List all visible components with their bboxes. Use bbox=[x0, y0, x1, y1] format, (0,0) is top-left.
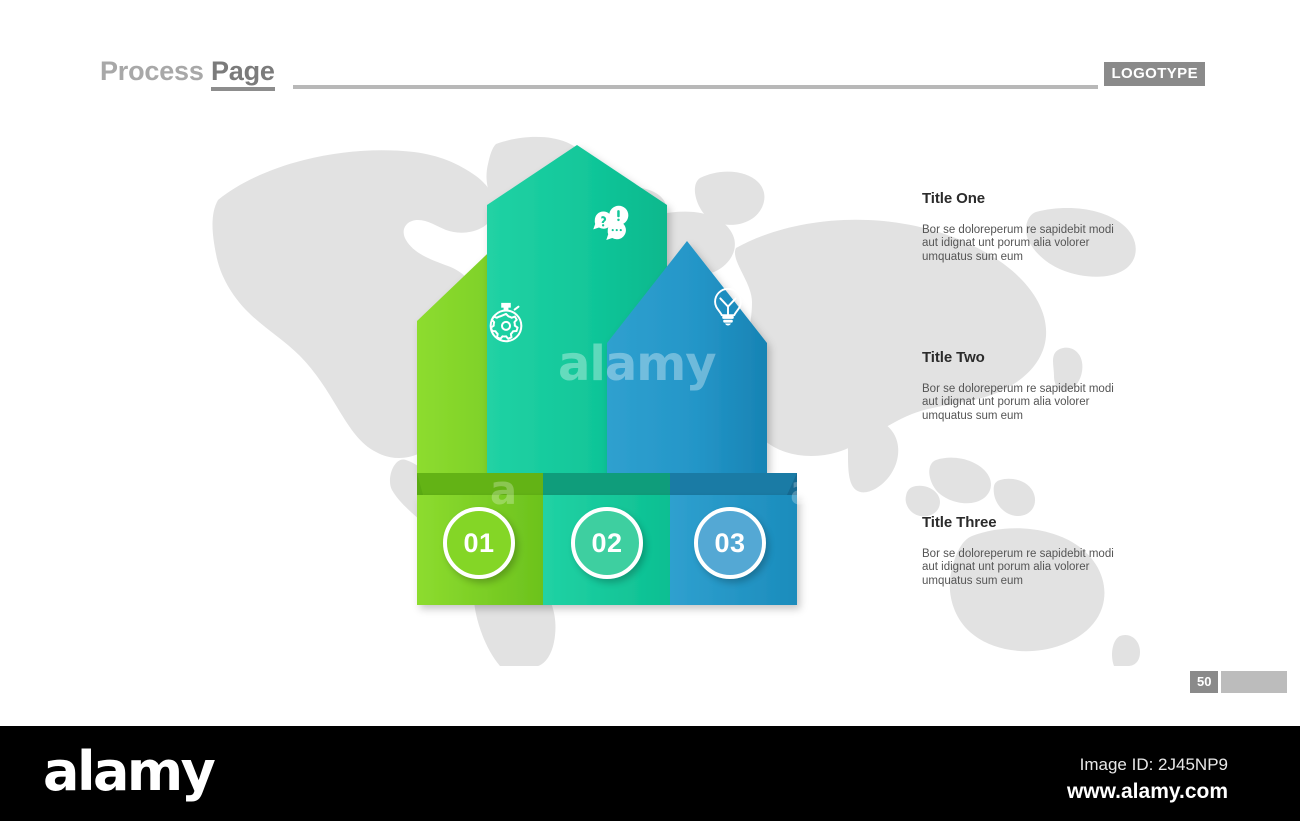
copy-title-three: Title Three bbox=[922, 514, 1122, 531]
speech-bubbles-icon bbox=[590, 200, 636, 246]
copy-block-one: Title One Bor se doloreperum re sapidebi… bbox=[922, 190, 1122, 264]
page-progress-bar bbox=[1221, 671, 1287, 693]
step-number-badge-02[interactable]: 02 bbox=[571, 507, 643, 579]
page-title-first-word: Process bbox=[100, 56, 211, 86]
copy-body-one: Bor se doloreperum re sapidebit modi aut… bbox=[922, 224, 1122, 264]
copy-title-two: Title Two bbox=[922, 349, 1122, 366]
alamy-url: www.alamy.com bbox=[1067, 780, 1228, 804]
page-number: 50 bbox=[1190, 671, 1218, 693]
lightbulb-icon bbox=[705, 285, 751, 331]
stopwatch-gear-icon bbox=[483, 300, 529, 346]
step-number-badge-03[interactable]: 03 bbox=[694, 507, 766, 579]
page-indicator: 50 bbox=[1190, 671, 1287, 693]
alamy-logo: alamy bbox=[43, 745, 213, 799]
base-top-faces bbox=[417, 473, 797, 495]
copy-body-two: Bor se doloreperum re sapidebit modi aut… bbox=[922, 383, 1122, 423]
image-id-label: Image ID: 2J45NP9 bbox=[1080, 755, 1228, 775]
copy-block-three: Title Three Bor se doloreperum re sapide… bbox=[922, 514, 1122, 588]
copy-body-three: Bor se doloreperum re sapidebit modi aut… bbox=[922, 548, 1122, 588]
watermark-bar: alamy Image ID: 2J45NP9 www.alamy.com bbox=[0, 726, 1300, 821]
logotype-badge: LOGOTYPE bbox=[1104, 62, 1205, 86]
copy-title-one: Title One bbox=[922, 190, 1122, 207]
page-title-second-word: Page bbox=[211, 56, 275, 91]
slide-canvas: Process Page LOGOTYPE bbox=[0, 0, 1300, 710]
copy-block-two: Title Two Bor se doloreperum re sapidebi… bbox=[922, 349, 1122, 423]
slide-header: Process Page LOGOTYPE bbox=[0, 0, 1300, 110]
step-number-badge-01[interactable]: 01 bbox=[443, 507, 515, 579]
header-divider-line bbox=[293, 85, 1098, 89]
page-title: Process Page bbox=[100, 56, 275, 87]
